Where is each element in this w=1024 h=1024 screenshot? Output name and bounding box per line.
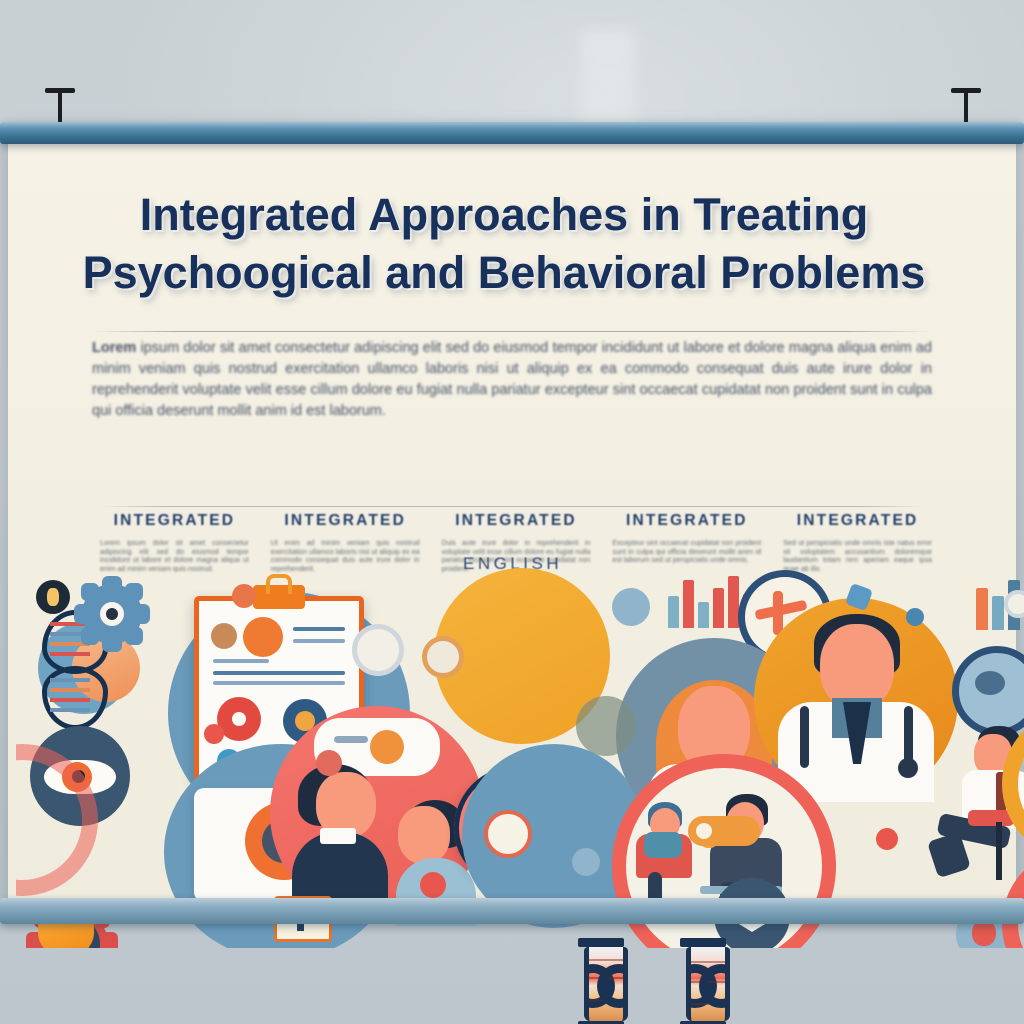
caption-block-5: INTEGRATED Sed ut perspiciatis unde omni… bbox=[783, 512, 932, 573]
dot-icon-12 bbox=[906, 608, 924, 626]
intro-lead-word: Lorem bbox=[92, 340, 136, 356]
screenshot-root: Integrated Approaches in Treating Psycho… bbox=[0, 0, 1024, 1024]
consultation-icon bbox=[270, 706, 484, 920]
dot-icon-4 bbox=[612, 588, 650, 626]
dot-icon-7 bbox=[484, 810, 532, 858]
dot-icon-14 bbox=[1004, 590, 1024, 618]
caption-body: Lorem ipsum dolor sit amet consectetur a… bbox=[100, 539, 249, 573]
page-title: Integrated Approaches in Treating Psycho… bbox=[60, 186, 948, 302]
infographic-illustration: ENGLISH bbox=[16, 548, 1024, 948]
caption-body: Ut enim ad minim veniam quis nostrud exe… bbox=[271, 539, 420, 573]
caption-heading: INTEGRATED bbox=[271, 512, 420, 530]
dot-icon-2 bbox=[422, 636, 464, 678]
title-line-2: Psychoogical and Behavioral Problems bbox=[83, 247, 926, 298]
caption-block-1: INTEGRATED Lorem ipsum dolor sit amet co… bbox=[100, 512, 249, 573]
dot-icon-11 bbox=[316, 750, 342, 776]
gear-icon bbox=[74, 576, 150, 652]
title-divider bbox=[92, 331, 930, 332]
cloud-badge-icon bbox=[952, 646, 1024, 736]
hourglass-dna-icon-right bbox=[680, 938, 726, 1024]
infographic-banner: Integrated Approaches in Treating Psycho… bbox=[8, 128, 1016, 905]
caption-body: Excepteur sint occaecat cupidatat non pr… bbox=[612, 539, 761, 565]
caption-heading: INTEGRATED bbox=[442, 512, 591, 530]
intro-paragraph: Lorem ipsum dolor sit amet consectetur a… bbox=[92, 338, 932, 422]
caption-body: Sed ut perspiciatis unde omnis iste natu… bbox=[783, 539, 932, 573]
dot-icon-6 bbox=[576, 696, 636, 756]
caption-heading: INTEGRATED bbox=[100, 512, 249, 530]
dot-icon-10 bbox=[204, 724, 224, 744]
title-line-1: Integrated Approaches in Treating bbox=[140, 189, 868, 240]
dot-icon-1 bbox=[352, 624, 404, 676]
hourglass-dna-icon-left bbox=[578, 938, 624, 1024]
banner-bottom-rail bbox=[0, 898, 1024, 924]
caption-block-3: INTEGRATED Duis aute irure dolor in repr… bbox=[442, 512, 591, 573]
small-dark-badge-icon bbox=[36, 580, 70, 614]
dot-icon-3 bbox=[232, 584, 256, 608]
caption-body: Duis aute irure dolor in reprehenderit i… bbox=[442, 539, 591, 573]
dot-icon-9 bbox=[572, 848, 600, 876]
caption-heading: INTEGRATED bbox=[612, 512, 761, 530]
banner-top-rail bbox=[0, 122, 1024, 144]
caption-heading: INTEGRATED bbox=[783, 512, 932, 530]
pill-icon bbox=[688, 816, 760, 846]
caption-row: INTEGRATED Lorem ipsum dolor sit amet co… bbox=[100, 512, 932, 573]
caption-block-4: INTEGRATED Excepteur sint occaecat cupid… bbox=[612, 512, 761, 573]
dot-icon-5 bbox=[876, 828, 898, 850]
intro-body: ipsum dolor sit amet consectetur adipisc… bbox=[92, 340, 932, 419]
caption-block-2: INTEGRATED Ut enim ad minim veniam quis … bbox=[271, 512, 420, 573]
